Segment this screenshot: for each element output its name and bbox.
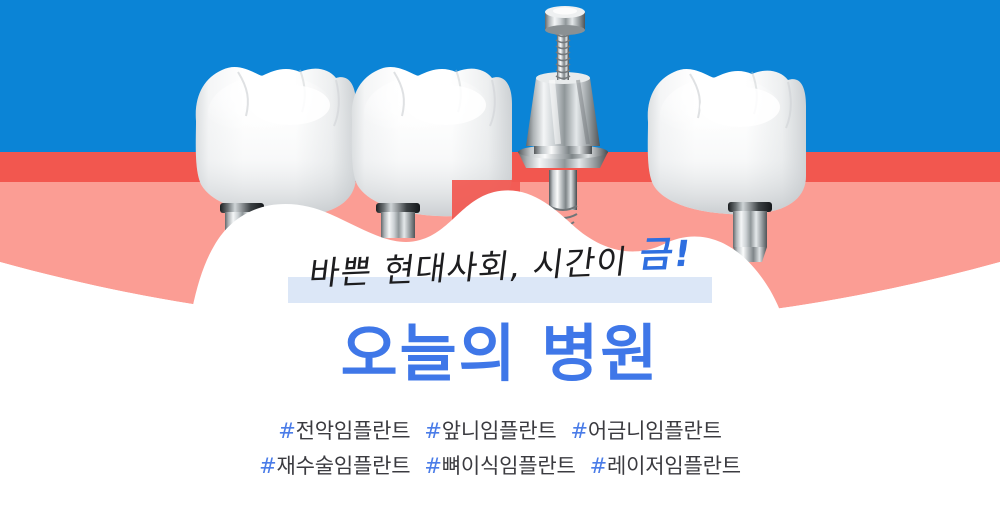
hash-symbol: # [571,419,588,443]
hash-symbol: # [424,454,441,478]
hashtag-label: 뼈이식임플란트 [442,454,576,478]
hashtag-row-1: #전악임플란트#앞니임플란트#어금니임플란트 [0,414,1000,449]
hash-symbol: # [278,419,295,443]
hashtag-item[interactable]: #어금니임플란트 [571,419,722,443]
screw-cap [545,6,585,35]
abutment-cone [526,78,600,146]
hashtag-label: 앞니임플란트 [442,419,557,443]
screw-thread [556,30,570,80]
hashtag-label: 전악임플란트 [296,419,411,443]
tooth-crown-1 [196,67,356,216]
implant-post-2 [376,203,420,238]
tagline-block: 바쁜 현대사회, 시간이 금! [0,238,1000,310]
hash-symbol: # [590,454,607,478]
hashtag-list: #전악임플란트#앞니임플란트#어금니임플란트 #재수술임플란트#뼈이식임플란트#… [0,414,1000,484]
tooth-crown-3 [648,69,806,214]
hashtag-row-2: #재수술임플란트#뼈이식임플란트#레이저임플란트 [0,449,1000,484]
hash-symbol: # [259,454,276,478]
dental-implant-hero-banner: 바쁜 현대사회, 시간이 금! 오늘의 병원 #전악임플란트#앞니임플란트#어금… [0,0,1000,525]
hashtag-label: 레이저임플란트 [607,454,741,478]
hash-symbol: # [424,419,441,443]
hashtag-item[interactable]: #뼈이식임플란트 [424,454,575,478]
hashtag-item[interactable]: #레이저임플란트 [590,454,741,478]
hashtag-item[interactable]: #앞니임플란트 [424,419,556,443]
hashtag-item[interactable]: #전악임플란트 [278,419,410,443]
hashtag-label: 재수술임플란트 [277,454,411,478]
hashtag-item[interactable]: #재수술임플란트 [259,454,410,478]
hashtag-label: 어금니임플란트 [588,419,722,443]
tagline-emphasis-word: 금! [637,225,696,278]
page-title: 오늘의 병원 [0,318,1000,390]
